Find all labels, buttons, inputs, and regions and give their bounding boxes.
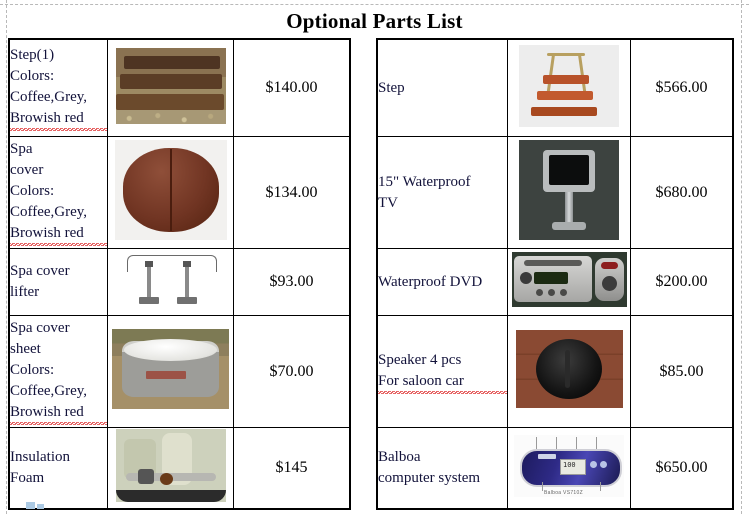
grey-cover-sheet-photo	[112, 329, 229, 409]
item-price-cell: $145	[234, 428, 349, 508]
waterproof-tv-photo	[519, 140, 619, 240]
item-photo-cell	[508, 316, 631, 428]
table-row[interactable]: Spa cover sheet Colors: Coffee,Grey, Bro…	[10, 316, 349, 428]
item-name-cell: Step(1) Colors: Coffee,Grey, Browish red	[10, 40, 108, 137]
optional-parts-table-right: Step $566.00 15" Waterproof TV $680.00 W…	[377, 39, 733, 509]
item-name: Step	[378, 78, 507, 99]
item-name: Balboa computer system	[378, 447, 507, 489]
spa-cover-lifter-photo	[121, 251, 221, 309]
item-price: $566.00	[656, 79, 708, 96]
balboa-caption: Balboa VS710Z	[544, 490, 583, 496]
layout-anchor-icon	[26, 500, 46, 510]
item-photo-cell	[108, 40, 234, 137]
item-photo-cell: 100 Balboa VS710Z	[508, 428, 631, 508]
item-price: $85.00	[660, 363, 704, 380]
car-speaker-photo	[516, 330, 623, 408]
wooden-step-photo	[116, 48, 226, 124]
item-name-cell: Spa cover Colors: Coffee,Grey, Browish r…	[10, 137, 108, 249]
balboa-lcd-reading: 100	[563, 461, 576, 469]
table-row[interactable]: Step $566.00	[378, 40, 732, 137]
item-photo-cell	[508, 137, 631, 249]
page-margin-guide-top	[0, 4, 749, 5]
item-name-cell: Waterproof DVD	[378, 249, 508, 316]
item-price: $145	[276, 459, 308, 476]
item-price-cell: $200.00	[631, 249, 732, 316]
item-name-cell: Spa cover sheet Colors: Coffee,Grey, Bro…	[10, 316, 108, 428]
item-name: Spa cover sheet Colors: Coffee,Grey, Bro…	[10, 318, 107, 425]
item-name-cell: Insulation Foam	[10, 428, 108, 508]
page-title: Optional Parts List	[0, 8, 749, 34]
table-row[interactable]: Spa cover Colors: Coffee,Grey, Browish r…	[10, 137, 349, 249]
item-price-cell: $93.00	[234, 249, 349, 316]
item-name-cell: 15" Waterproof TV	[378, 137, 508, 249]
item-price: $70.00	[270, 363, 314, 380]
item-price-cell: $566.00	[631, 40, 732, 137]
item-price-cell: $140.00	[234, 40, 349, 137]
page-margin-guide-left	[6, 0, 7, 514]
insulation-foam-photo	[116, 429, 226, 502]
table-row[interactable]: Speaker 4 pcs For saloon car $85.00	[378, 316, 732, 428]
item-name: Waterproof DVD	[378, 272, 507, 293]
balboa-control-panel-photo: 100 Balboa VS710Z	[514, 435, 624, 497]
item-photo-cell	[108, 249, 234, 316]
table-row[interactable]: Waterproof DVD $200.00	[378, 249, 732, 316]
brown-spa-cover-photo	[115, 140, 227, 240]
item-name-cell: Balboa computer system	[378, 428, 508, 508]
table-row[interactable]: 15" Waterproof TV $680.00	[378, 137, 732, 249]
item-name-cell: Step	[378, 40, 508, 137]
item-name-cell: Speaker 4 pcs For saloon car	[378, 316, 508, 428]
item-name: Spa cover lifter	[10, 261, 107, 303]
item-price-cell: $680.00	[631, 137, 732, 249]
item-price: $134.00	[266, 184, 318, 201]
item-price: $93.00	[270, 273, 314, 290]
table-row[interactable]: Step(1) Colors: Coffee,Grey, Browish red…	[10, 40, 349, 137]
item-price: $680.00	[656, 184, 708, 201]
page-margin-guide-right	[741, 0, 742, 514]
item-photo-cell	[508, 40, 631, 137]
item-price-cell: $650.00	[631, 428, 732, 508]
item-price-cell: $85.00	[631, 316, 732, 428]
item-name: Speaker 4 pcs For saloon car	[378, 350, 507, 394]
item-price: $200.00	[656, 273, 708, 290]
item-name-cell: Spa cover lifter	[10, 249, 108, 316]
table-row[interactable]: Insulation Foam $145	[10, 428, 349, 508]
item-photo-cell	[508, 249, 631, 316]
step-ladder-photo	[519, 45, 619, 127]
item-price-cell: $134.00	[234, 137, 349, 249]
table-row[interactable]: Balboa computer system 100 Balboa VS710Z…	[378, 428, 732, 508]
item-price: $650.00	[656, 459, 708, 476]
table-row[interactable]: Spa cover lifter $93.00	[10, 249, 349, 316]
item-photo-cell	[108, 428, 234, 508]
item-name: Step(1) Colors: Coffee,Grey, Browish red	[10, 45, 107, 131]
item-name: 15" Waterproof TV	[378, 172, 507, 214]
item-photo-cell	[108, 137, 234, 249]
item-photo-cell	[108, 316, 234, 428]
item-price: $140.00	[266, 79, 318, 96]
optional-parts-table-left: Step(1) Colors: Coffee,Grey, Browish red…	[9, 39, 350, 509]
item-price-cell: $70.00	[234, 316, 349, 428]
item-name: Insulation Foam	[10, 447, 107, 489]
item-name: Spa cover Colors: Coffee,Grey, Browish r…	[10, 139, 107, 246]
waterproof-dvd-photo	[512, 252, 627, 307]
